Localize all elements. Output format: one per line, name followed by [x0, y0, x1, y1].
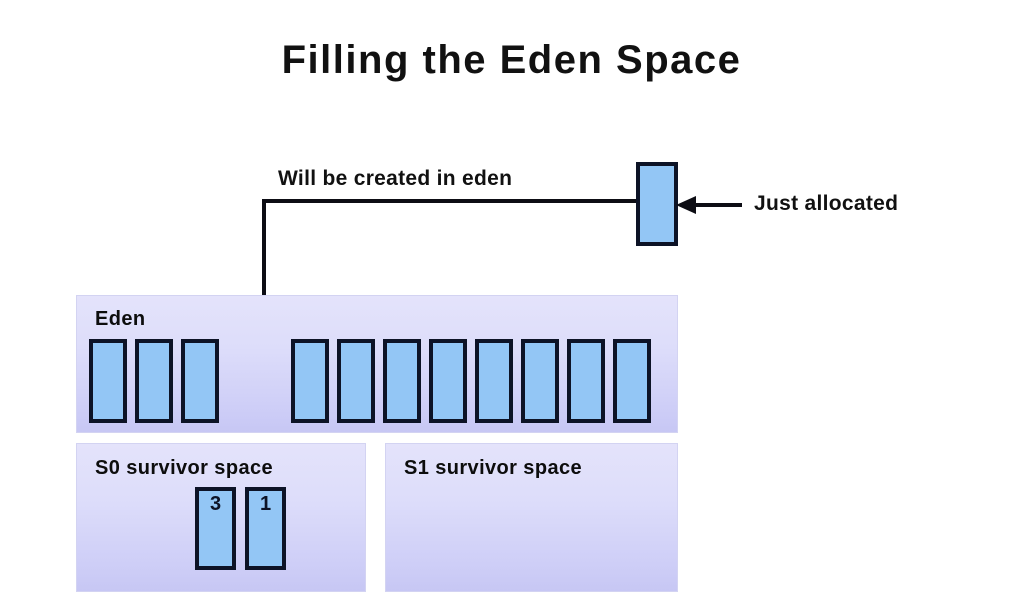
eden-object-block: [135, 339, 173, 423]
annotation-will-be-created-in-eden: Will be created in eden: [278, 167, 512, 191]
eden-object-block: [429, 339, 467, 423]
object-age-label: 1: [249, 493, 282, 516]
eden-object-block: [613, 339, 651, 423]
page-title: Filling the Eden Space: [0, 38, 1023, 83]
gc-memory-diagram: Filling the Eden Space Will be created i…: [0, 0, 1023, 612]
s0-survivor-space-container: S0 survivor space 31: [76, 443, 366, 592]
s0-survivor-space-title: S0 survivor space: [95, 457, 273, 480]
annotation-just-allocated: Just allocated: [754, 192, 898, 216]
just-allocated-object-block: [636, 162, 678, 246]
eden-object-block: [337, 339, 375, 423]
s1-survivor-space-title: S1 survivor space: [404, 457, 582, 480]
survivor-object-block: 3: [195, 487, 236, 570]
eden-object-block: [89, 339, 127, 423]
eden-object-block: [475, 339, 513, 423]
eden-object-block: [291, 339, 329, 423]
eden-space-container: Eden: [76, 295, 678, 433]
just-allocated-arrow: [676, 196, 742, 214]
eden-object-block: [181, 339, 219, 423]
s1-survivor-space-container: S1 survivor space: [385, 443, 678, 592]
eden-space-title: Eden: [95, 308, 146, 331]
eden-object-block: [383, 339, 421, 423]
eden-object-block: [567, 339, 605, 423]
object-age-label: 3: [199, 493, 232, 516]
survivor-object-block: 1: [245, 487, 286, 570]
eden-object-block: [521, 339, 559, 423]
